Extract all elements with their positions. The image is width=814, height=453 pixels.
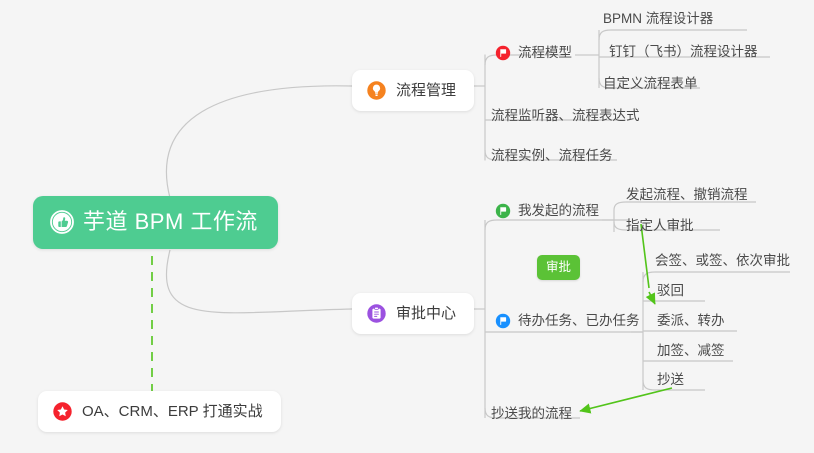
node-process-model[interactable]: 流程模型 xyxy=(493,45,576,65)
node-cc[interactable]: 抄送 xyxy=(655,373,688,392)
root-label: 芋道 BPM 工作流 xyxy=(83,211,258,233)
link-todo-to-countersign xyxy=(643,272,790,282)
node-label: 流程模型 xyxy=(518,46,572,61)
node-label: 委派、转办 xyxy=(657,314,725,329)
node-bpmn-designer[interactable]: BPMN 流程设计器 xyxy=(601,12,717,31)
node-todo-done-tasks[interactable]: 待办任务、已办任务 xyxy=(493,313,644,333)
node-assignee-approval[interactable]: 指定人审批 xyxy=(624,219,698,238)
root-node[interactable]: 芋道 BPM 工作流 xyxy=(33,196,278,249)
link-root-to-process-management xyxy=(166,86,352,198)
node-label: 我发起的流程 xyxy=(518,204,599,219)
flag-icon xyxy=(495,45,511,61)
node-process-listener-expression[interactable]: 流程监听器、流程表达式 xyxy=(489,109,644,128)
link-root-to-approval-center xyxy=(166,250,352,313)
node-label: 流程实例、流程任务 xyxy=(491,149,613,164)
flag-icon xyxy=(495,203,511,219)
link-model-to-bpmn xyxy=(599,30,747,40)
node-countersign-or-sequential[interactable]: 会签、或签、依次审批 xyxy=(653,254,794,273)
node-label: 钉钉（飞书）流程设计器 xyxy=(609,45,758,60)
node-label: BPMN 流程设计器 xyxy=(603,12,713,27)
star-icon xyxy=(52,401,73,422)
node-label: OA、CRM、ERP 打通实战 xyxy=(82,404,263,419)
node-my-started-process[interactable]: 我发起的流程 xyxy=(493,203,603,223)
node-label: 审批中心 xyxy=(396,306,456,321)
node-label: 流程监听器、流程表达式 xyxy=(491,109,640,124)
node-label: 会签、或签、依次审批 xyxy=(655,254,790,269)
node-label: 加签、减签 xyxy=(657,344,725,359)
node-label: 抄送 xyxy=(657,373,684,388)
node-label: 抄送我的流程 xyxy=(491,407,572,422)
node-label: 指定人审批 xyxy=(626,219,694,234)
node-cc-to-me-process[interactable]: 抄送我的流程 xyxy=(489,407,576,426)
node-process-management[interactable]: 流程管理 xyxy=(352,70,474,111)
annotation-approval-tag: 审批 xyxy=(537,255,580,280)
flag-icon xyxy=(495,313,511,329)
lightbulb-icon xyxy=(366,80,387,101)
node-process-instance-task[interactable]: 流程实例、流程任务 xyxy=(489,149,617,168)
node-label: 自定义流程表单 xyxy=(603,77,698,92)
node-custom-process-form[interactable]: 自定义流程表单 xyxy=(601,77,702,96)
node-start-cancel-process[interactable]: 发起流程、撤销流程 xyxy=(624,188,752,207)
thumbs-up-icon xyxy=(50,210,74,234)
clipboard-icon xyxy=(366,303,387,324)
node-label: 发起流程、撤销流程 xyxy=(626,188,748,203)
node-oa-crm-erp[interactable]: OA、CRM、ERP 打通实战 xyxy=(38,391,281,432)
node-delegate-transfer[interactable]: 委派、转办 xyxy=(655,314,729,333)
mindmap-canvas: 芋道 BPM 工作流 流程管理 审批中心 xyxy=(0,0,814,453)
node-reject[interactable]: 驳回 xyxy=(655,284,688,303)
node-label: 待办任务、已办任务 xyxy=(518,314,640,329)
node-approval-center[interactable]: 审批中心 xyxy=(352,293,474,334)
node-label: 流程管理 xyxy=(396,83,456,98)
node-add-remove-sign[interactable]: 加签、减签 xyxy=(655,344,729,363)
node-label: 驳回 xyxy=(657,284,684,299)
node-dingtalk-feishu-designer[interactable]: 钉钉（飞书）流程设计器 xyxy=(607,45,762,64)
